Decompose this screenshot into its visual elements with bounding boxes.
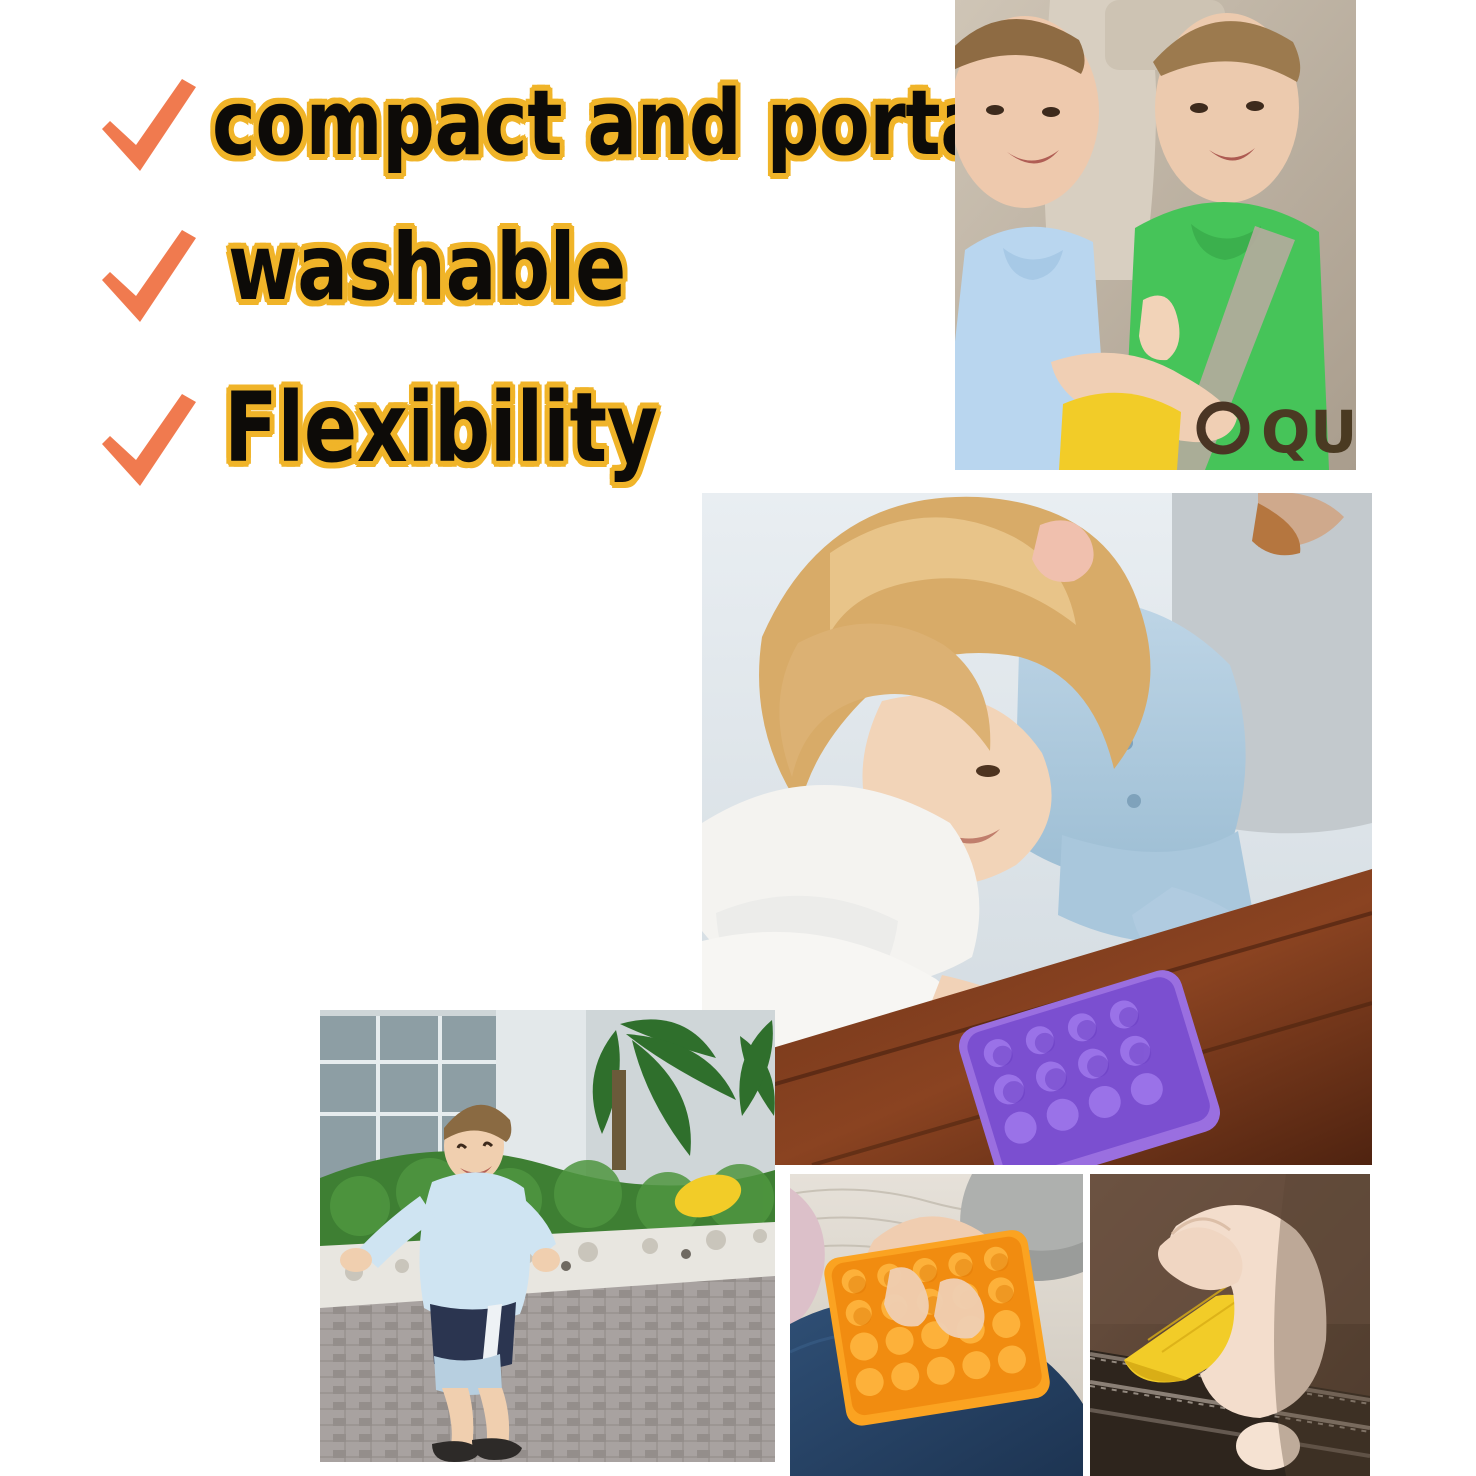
feature-list: compact and portable washable Flexibilit… bbox=[96, 62, 916, 517]
photo-boys-in-car: QU bbox=[955, 0, 1356, 470]
photo-orange-popit-on-jeans bbox=[790, 1174, 1083, 1476]
photo-girl-with-purple-popit bbox=[702, 493, 1372, 1165]
feature-label: washable bbox=[228, 222, 626, 314]
feature-label: Flexibility bbox=[224, 380, 658, 476]
orange-checkmark-icon bbox=[96, 71, 202, 183]
photo-boy-outdoors bbox=[320, 1010, 775, 1462]
orange-checkmark-icon bbox=[96, 386, 202, 498]
feature-item-compact-and-portable: compact and portable bbox=[96, 62, 916, 192]
feature-item-washable: washable bbox=[96, 200, 916, 355]
orange-checkmark-icon bbox=[96, 222, 202, 334]
svg-text:QU: QU bbox=[1261, 398, 1356, 466]
photo-yellow-popit-in-bag bbox=[1090, 1174, 1370, 1476]
